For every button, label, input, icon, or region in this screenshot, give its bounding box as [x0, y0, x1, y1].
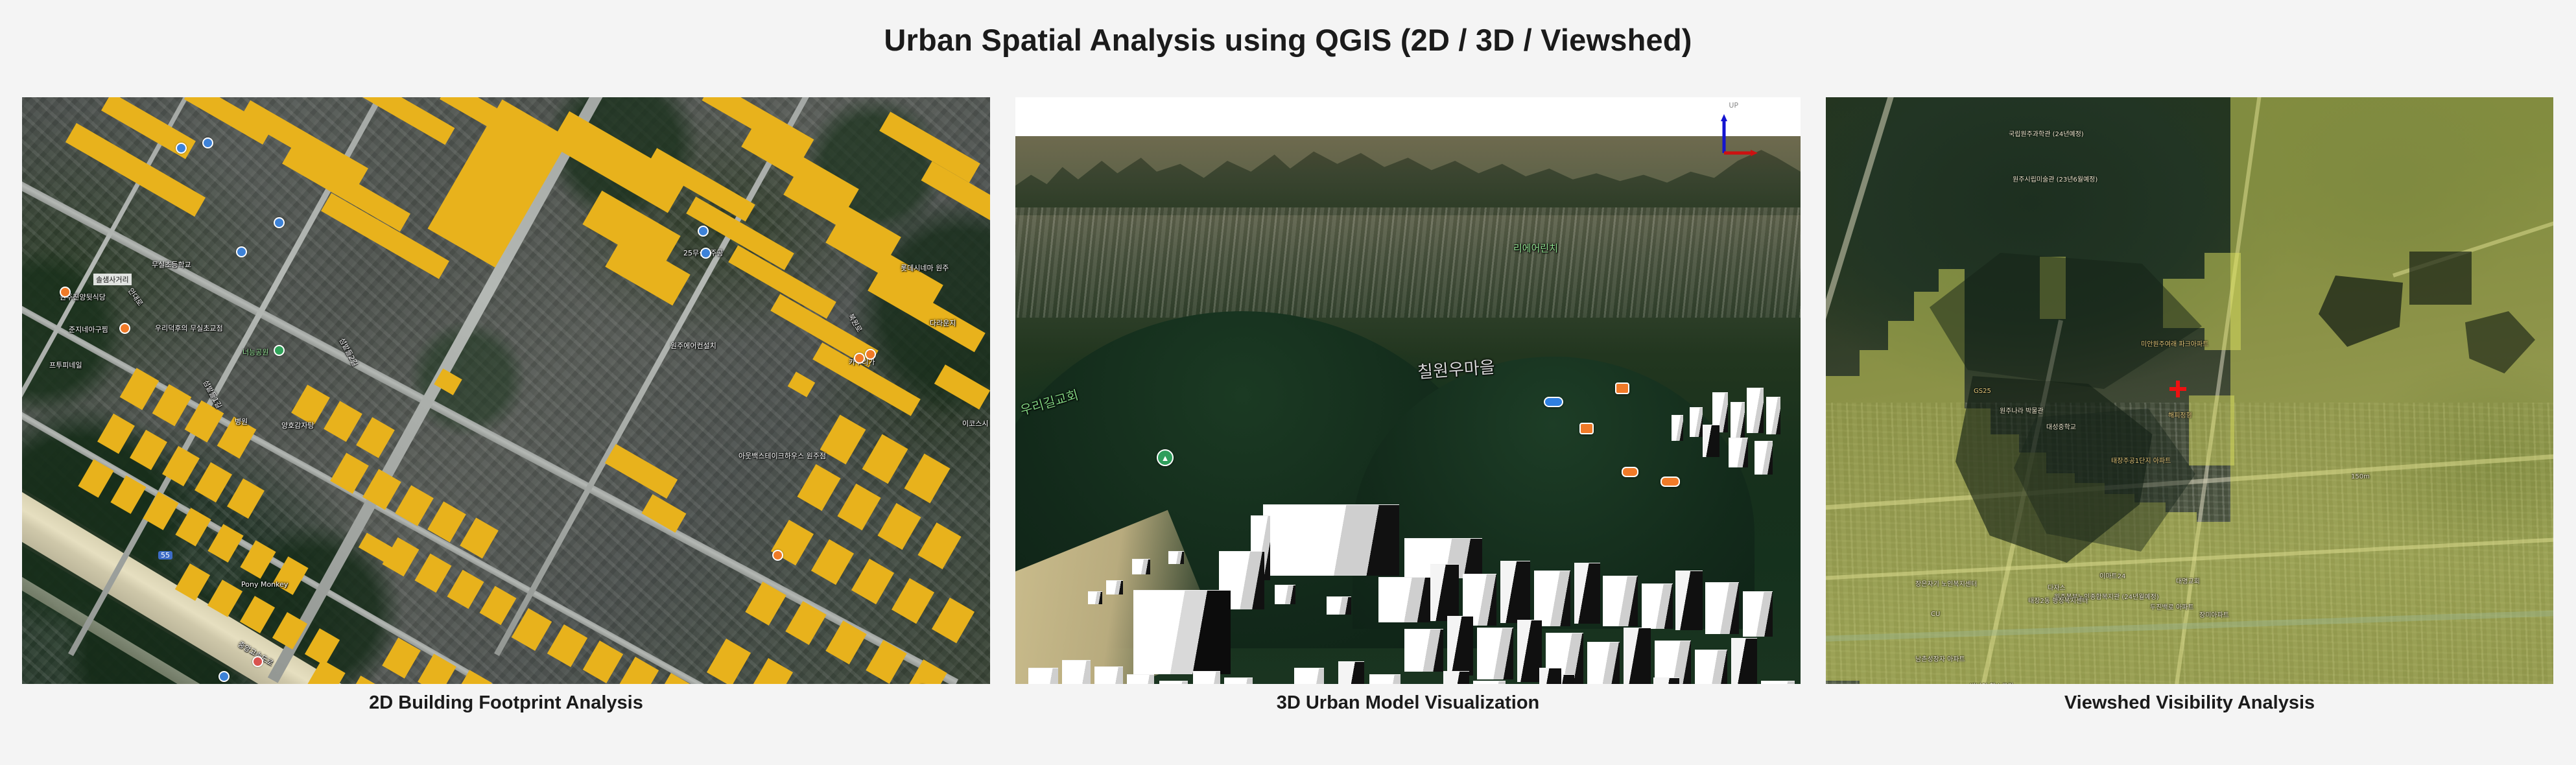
caption-2d: 2D Building Footprint Analysis	[22, 692, 990, 714]
poi-pin-transit-icon[interactable]	[236, 246, 247, 257]
poi-pin-generic-icon[interactable]	[1622, 467, 1638, 477]
poi-pin-generic-icon[interactable]	[1660, 477, 1680, 487]
poi-pin-layer-3d[interactable]: ▲ ▲ 🔒 🚌 🚌	[1015, 97, 1801, 684]
poi-pin-restaurant-icon[interactable]	[1615, 383, 1629, 394]
map-label-viewshed: CU	[1931, 611, 1940, 618]
map-label-viewshed: 150m	[2351, 473, 2370, 480]
map-label-layer-viewshed: 국립원주과학관 (24년예정) 원주시립미술관 (23년6월예정) 미안원주여래…	[1826, 97, 2553, 684]
map-label-viewshed: 해피정형	[2168, 410, 2192, 419]
poi-pin-transit-icon[interactable]	[176, 143, 187, 154]
poi-pin-restaurant-icon[interactable]	[60, 287, 71, 298]
poi-pin-restaurant-icon[interactable]	[1579, 423, 1594, 434]
poi-pin-park-icon[interactable]	[274, 345, 285, 356]
poi-pin-restaurant-icon[interactable]	[854, 353, 865, 364]
poi-pin-restaurant-icon[interactable]	[119, 323, 130, 334]
map-label-viewshed: 이마트24	[2099, 571, 2125, 580]
poi-pin-transit-icon[interactable]	[274, 217, 285, 228]
poi-pin-park-icon[interactable]: ▲	[1157, 449, 1174, 466]
caption-3d: 3D Urban Model Visualization	[1015, 692, 1801, 714]
map-label-viewshed: 원주나라 박물관	[2000, 405, 2044, 415]
caption-viewshed: Viewshed Visibility Analysis	[1826, 692, 2553, 714]
map-label-viewshed: 장은자기 노인복지센터	[1915, 578, 1977, 588]
map-label-viewshed: 원주시립미술관 (23년6월예정)	[2013, 174, 2097, 183]
map-label-viewshed: 대성중학교	[2046, 421, 2076, 431]
poi-pin-restaurant-icon[interactable]	[772, 550, 783, 561]
poi-pin-transit-icon[interactable]	[219, 671, 230, 682]
map-label-viewshed: 국립원주과학관 (24년예정)	[2009, 128, 2084, 138]
panel-3d-urban-model[interactable]: 만대사거리 유니클로 원주점 Sweet Cook 스위 칠원우마을 우리길교회…	[1015, 97, 1801, 684]
poster-root: Urban Spatial Analysis using QGIS (2D / …	[0, 0, 2576, 765]
axis-gizmo-up-label: UP	[1729, 101, 1738, 110]
map-label-viewshed: 비나인 헬스클럽	[1970, 681, 2014, 684]
map-label-viewshed: 두진백로 아파트	[2150, 602, 2194, 611]
map-label-viewshed: 미안원주여래 파크아파트	[2141, 338, 2208, 348]
map-label-viewshed: 장미아파트	[2199, 609, 2229, 619]
panel-viewshed-analysis[interactable]: 국립원주과학관 (24년예정) 원주시립미술관 (23년6월예정) 미안원주여래…	[1826, 97, 2553, 684]
poi-pin-restaurant-icon[interactable]	[865, 349, 876, 360]
map-label-viewshed: 대명교회	[2176, 576, 2200, 585]
poi-pin-transit-icon[interactable]	[202, 137, 213, 148]
axis-gizmo-icon	[1710, 113, 1758, 158]
map-label-viewshed: 남촌성장자 아파트	[1915, 653, 1965, 663]
poi-pin-layer-2d[interactable]	[22, 97, 990, 684]
poi-pin-sports-icon[interactable]	[1544, 397, 1563, 407]
map-label-viewshed: GS25	[1974, 388, 1991, 395]
poi-pin-transit-icon[interactable]	[698, 226, 709, 237]
map-label-viewshed: 태장2동 행정복지센터	[2028, 595, 2088, 605]
poi-pin-transit-icon[interactable]	[700, 248, 711, 259]
map-label-viewshed: 태장주공1단지 아파트	[2111, 455, 2171, 465]
poi-pin-hospital-icon[interactable]	[252, 656, 263, 667]
page-title: Urban Spatial Analysis using QGIS (2D / …	[0, 22, 2576, 58]
panel-2d-building-footprints[interactable]: 무실초등학교 솔샘사거리 원주진양뒷식당 안대로 준지네아구찜 우리덕후의 무실…	[22, 97, 990, 684]
map-label-viewshed: 다자스	[2048, 582, 2066, 592]
viewshed-observer-marker[interactable]	[2169, 381, 2186, 397]
